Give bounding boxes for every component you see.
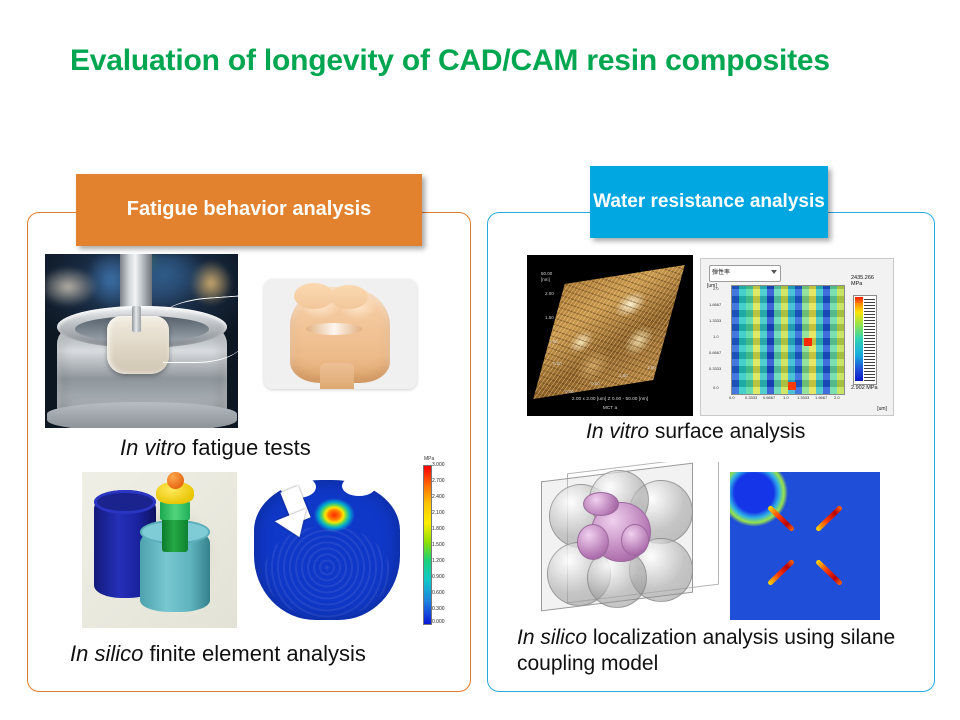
colorbar-tick: 0.900: [432, 574, 445, 580]
modulus-scale-max-unit: MPa: [851, 281, 862, 287]
load-direction-arrow-icon: [280, 488, 326, 544]
colorbar-tick: 2.700: [432, 478, 445, 484]
interfacial-stress-hotspot: [767, 505, 795, 532]
crown-central-fissure: [306, 323, 362, 335]
crown-cusp-right: [330, 285, 368, 309]
modulus-y-tick: 0.0: [713, 385, 719, 390]
colorbar-tick: 1.200: [432, 558, 445, 564]
colorbar-tick: 3.000: [432, 462, 445, 468]
colorbar-tick: 1.800: [432, 526, 445, 532]
banner-water-resistance-analysis: Water resistance analysis: [590, 166, 828, 238]
colorbar-tick: 1.500: [432, 542, 445, 548]
silane-unit-cell-model: [525, 462, 721, 625]
afm-surface-topography: 50.00 [nm] 2.00 1.50 1.00 0.50 0.00 0.50…: [527, 255, 693, 416]
fem-stress-contour: [250, 474, 405, 626]
banner-fatigue-behavior-analysis: Fatigue behavior analysis: [76, 174, 422, 246]
colorbar-tick: 0.000: [432, 619, 445, 625]
page-title: Evaluation of longevity of CAD/CAM resin…: [70, 42, 870, 80]
interfacial-stress-hotspot: [815, 559, 843, 586]
crown-cusp-left: [294, 283, 334, 309]
caption-in-vitro-fatigue: In vitro fatigue tests: [120, 435, 311, 462]
afm-x-tick: 1.00: [619, 373, 628, 378]
afm-z-tick: 0.50: [553, 361, 562, 366]
caption-italic-part: In silico: [517, 626, 587, 649]
modulus-y-tick: 0.6667: [709, 350, 721, 355]
modulus-y-tick: 1.0: [713, 334, 719, 339]
modulus-map-plot-area: [731, 285, 845, 395]
modulus-colorbar-gradient: [855, 297, 863, 381]
modulus-x-tick: 1.6667: [815, 395, 827, 400]
afm-topography-surface: [533, 265, 685, 399]
interfacial-stress-hotspot: [767, 559, 795, 586]
afm-x-tick: 1.50: [647, 365, 656, 370]
modulus-x-tick: 0.3333: [745, 395, 757, 400]
occlusal-notch-right: [342, 476, 376, 496]
outer-cylinder-top-rim: [94, 490, 156, 514]
crown-root-stub: [320, 363, 354, 389]
slide-root: Evaluation of longevity of CAD/CAM resin…: [0, 0, 960, 720]
elastic-modulus-map: 弾性率 [um] 2.0 1.6667 1.3333 1.0 0.6667 0.…: [700, 258, 894, 416]
fatigue-test-rig-photo: [45, 254, 238, 428]
caption-italic-part: In vitro: [120, 435, 186, 460]
chevron-down-icon: [771, 270, 777, 274]
localization-stress-map: [730, 472, 880, 620]
silane-interphase-disc: [583, 492, 619, 516]
modulus-x-tick: 2.0: [834, 395, 840, 400]
afm-z-unit-label: [nm]: [541, 277, 550, 282]
caption-rest-part: surface analysis: [649, 420, 805, 443]
colorbar-tick: 0.600: [432, 590, 445, 596]
modulus-map-x-unit: [um]: [877, 406, 887, 412]
caption-italic-part: In vitro: [586, 420, 649, 443]
afm-z-tick: 2.00: [545, 291, 554, 296]
colorbar-tick: 0.300: [432, 606, 445, 612]
caption-rest-part: finite element analysis: [143, 641, 366, 666]
loading-indenter-sphere: [167, 472, 184, 489]
modulus-x-tick: 1.3333: [797, 395, 809, 400]
loading-pin: [132, 306, 141, 332]
afm-z-tick: 1.50: [545, 315, 554, 320]
modulus-y-tick: 1.3333: [709, 318, 721, 323]
caption-in-vitro-surface: In vitro surface analysis: [586, 419, 805, 445]
afm-x-tick: 0.50: [591, 381, 600, 386]
colorbar-tick: 2.400: [432, 494, 445, 500]
modulus-property-select-value: 弾性率: [712, 270, 730, 276]
modulus-y-tick: 2.0: [713, 286, 719, 291]
modulus-hotspot-cell: [804, 338, 812, 346]
modulus-x-tick: 0.6667: [763, 395, 775, 400]
afm-z-tick: 1.00: [549, 339, 558, 344]
caption-in-silico-fea: In silico finite element analysis: [70, 641, 366, 668]
caption-in-silico-localization: In silico localization analysis using si…: [517, 625, 917, 676]
modulus-scale-max-value: 2435.266: [851, 275, 874, 281]
afm-scan-parameters: 2.00 x 2.00 [um] Z 0.00 - 50.00 [nm]: [527, 397, 693, 402]
modulus-histogram: [864, 297, 875, 381]
modulus-x-tick: 0.0: [729, 395, 735, 400]
crown-specimen-callout: [264, 279, 417, 389]
fem-stress-colorbar: MPa 3.000 2.700 2.400 2.100 1.800 1.500 …: [415, 456, 455, 632]
afm-sample-label: MCT a: [527, 406, 693, 411]
modulus-x-tick: 1.0: [783, 395, 789, 400]
silane-interphase-disc: [577, 524, 609, 560]
fem-assembly-model: [82, 472, 237, 628]
modulus-y-tick: 0.3333: [709, 366, 721, 371]
caption-rest-part: fatigue tests: [186, 435, 311, 460]
piston-rod: [120, 254, 152, 312]
afm-z-max-label: 50.00: [541, 271, 552, 276]
caption-italic-part: In silico: [70, 641, 143, 666]
colorbar-gradient-strip: [423, 465, 432, 625]
interfacial-stress-hotspot: [815, 505, 843, 532]
modulus-y-tick: 1.6667: [709, 302, 721, 307]
silane-interphase-disc: [621, 524, 649, 556]
afm-x-tick: 0.00: [565, 389, 574, 394]
modulus-scale-max: 2435.266 MPa: [851, 275, 874, 288]
modulus-colorbar: [853, 295, 877, 385]
modulus-scale-min: 2.902 MPa: [851, 385, 878, 391]
modulus-hotspot-cell: [788, 382, 796, 390]
modulus-property-select[interactable]: 弾性率: [709, 265, 781, 282]
colorbar-tick: 2.100: [432, 510, 445, 516]
rig-base-plate: [47, 402, 237, 428]
